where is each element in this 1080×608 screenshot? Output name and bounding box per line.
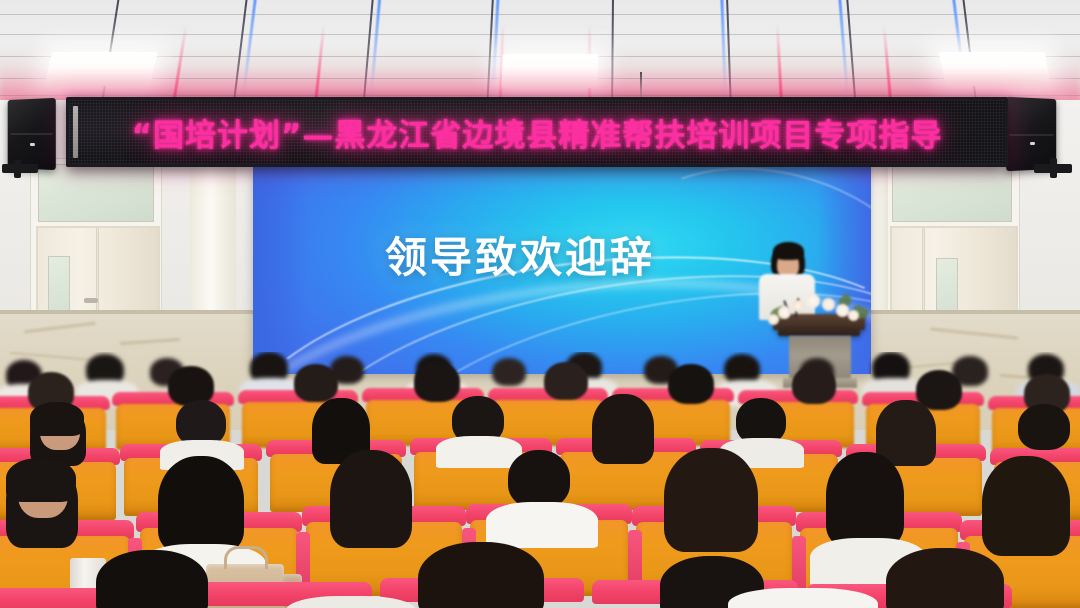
auditorium-scene: 领导致欢迎辞	[0, 0, 1080, 608]
door-handle-left[interactable]	[84, 298, 98, 303]
banner-hanging-wire	[640, 72, 642, 100]
slide-title: 领导致欢迎辞	[253, 224, 829, 285]
ceiling	[0, 0, 1080, 108]
wall-speaker-right	[1006, 97, 1056, 171]
door-transom-left	[38, 164, 154, 222]
door-transom-right	[892, 164, 1012, 222]
led-banner-text: “国培计划”—黑龙江省边境县精准帮扶培训项目专项指导	[132, 110, 943, 155]
led-scrolling-banner: “国培计划”—黑龙江省边境县精准帮扶培训项目专项指导	[66, 97, 1008, 167]
seated-audience	[0, 352, 1080, 608]
projection-screen: 领导致欢迎辞	[253, 166, 871, 374]
